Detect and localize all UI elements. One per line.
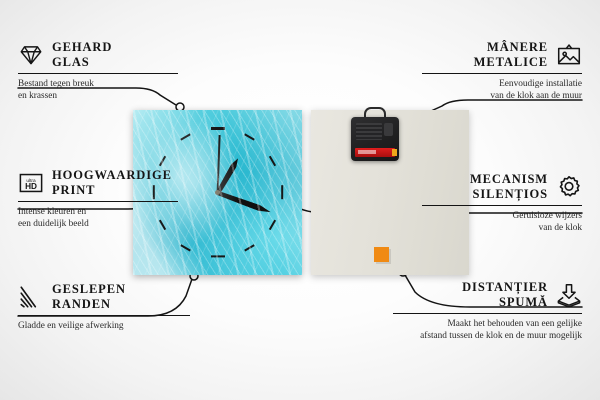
feature-description: Gladde en veilige afwerking bbox=[18, 320, 190, 332]
feature-gehard-glas: GEHARDGLAS Bestand tegen breuken krassen bbox=[18, 40, 178, 102]
feature-header: MECANISMSILENȚIOS bbox=[422, 172, 582, 202]
down-arrow-pad-icon bbox=[556, 282, 582, 308]
feature-divider bbox=[18, 73, 178, 74]
feature-hoogwaardige-print: ultra HD HOOGWAARDIGEPRINT Intense kleur… bbox=[18, 168, 178, 230]
feature-description: Geruisloze wijzersvan de klok bbox=[422, 210, 582, 234]
clock-tick bbox=[244, 244, 254, 251]
svg-text:HD: HD bbox=[25, 182, 37, 191]
ultra-hd-icon: ultra HD bbox=[18, 170, 44, 196]
clock-second-hand bbox=[217, 135, 221, 193]
feature-divider bbox=[422, 73, 582, 74]
clock-tick bbox=[280, 185, 282, 199]
clock-tick bbox=[180, 133, 190, 140]
battery-label bbox=[358, 150, 376, 154]
battery-terminal bbox=[392, 149, 397, 156]
mechanism-knob bbox=[384, 123, 393, 136]
feature-geslepen-randen: GESLEPENRANDEN Gladde en veilige afwerki… bbox=[18, 282, 190, 332]
clock-tick bbox=[211, 127, 225, 129]
feature-header: GESLEPENRANDEN bbox=[18, 282, 190, 312]
feature-distantier-spuma: DISTANȚIERSPUMĂ Maakt het behouden van e… bbox=[393, 280, 582, 342]
diamond-icon bbox=[18, 42, 44, 68]
feature-description: Maakt het behouden van een gelijkeafstan… bbox=[393, 318, 582, 342]
feature-description: Eenvoudige installatievan de klok aan de… bbox=[422, 78, 582, 102]
foam-spacer bbox=[374, 247, 389, 262]
feature-title: MÂNEREMETALICE bbox=[474, 40, 548, 70]
clock-tick bbox=[158, 155, 165, 165]
clock-minute-hand bbox=[216, 190, 271, 215]
feature-title: MECANISMSILENȚIOS bbox=[470, 172, 548, 202]
feature-title: HOOGWAARDIGEPRINT bbox=[52, 168, 172, 198]
clock-tick bbox=[180, 244, 190, 251]
feature-manere-metalice: MÂNEREMETALICE Eenvoudige installatievan… bbox=[422, 40, 582, 102]
bevelled-edges-icon bbox=[18, 284, 44, 310]
feature-mecanism-silentios: MECANISMSILENȚIOS Geruisloze wijzersvan … bbox=[422, 172, 582, 234]
feature-divider bbox=[422, 205, 582, 206]
clock-center-hub bbox=[215, 190, 220, 195]
feature-description: Bestand tegen breuken krassen bbox=[18, 78, 178, 102]
feature-header: ultra HD HOOGWAARDIGEPRINT bbox=[18, 168, 178, 198]
clock-tick bbox=[269, 219, 276, 229]
feature-title: GEHARDGLAS bbox=[52, 40, 112, 70]
battery bbox=[355, 148, 395, 157]
gear-icon bbox=[556, 174, 582, 200]
clock-mechanism bbox=[351, 117, 399, 161]
clock-tick bbox=[211, 255, 225, 257]
feature-header: DISTANȚIERSPUMĂ bbox=[393, 280, 582, 310]
picture-frame-icon bbox=[556, 42, 582, 68]
feature-description: Intense kleuren eneen duidelijk beeld bbox=[18, 206, 178, 230]
mechanism-vents bbox=[356, 123, 382, 140]
feature-header: GEHARDGLAS bbox=[18, 40, 178, 70]
product-image bbox=[133, 110, 469, 275]
feature-divider bbox=[18, 315, 190, 316]
feature-divider bbox=[393, 313, 582, 314]
feature-divider bbox=[18, 201, 178, 202]
clock-tick bbox=[269, 155, 276, 165]
clock-tick bbox=[244, 133, 254, 140]
feature-header: MÂNEREMETALICE bbox=[422, 40, 582, 70]
feature-title: GESLEPENRANDEN bbox=[52, 282, 126, 312]
feature-title: DISTANȚIERSPUMĂ bbox=[462, 280, 548, 310]
